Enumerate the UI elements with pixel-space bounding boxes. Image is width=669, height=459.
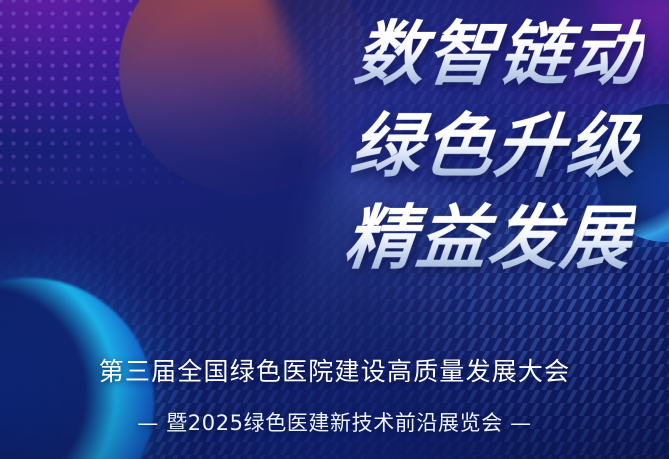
headline-line-1: 数智链动 bbox=[0, 8, 648, 100]
subtitle-block: 第三届全国绿色医院建设高质量发展大会 — 暨2025绿色医建新技术前沿展览会 — bbox=[0, 356, 669, 437]
conference-title: 第三届全国绿色医院建设高质量发展大会 bbox=[0, 356, 669, 388]
headline-line-2: 绿色升级 bbox=[0, 100, 644, 192]
exhibition-subtitle: — 暨2025绿色医建新技术前沿展览会 — bbox=[0, 409, 669, 437]
conference-poster: 数智链动 绿色升级 精益发展 第三届全国绿色医院建设高质量发展大会 — 暨202… bbox=[0, 0, 669, 459]
headline-block: 数智链动 绿色升级 精益发展 bbox=[0, 8, 643, 284]
headline-line-3: 精益发展 bbox=[0, 192, 638, 284]
